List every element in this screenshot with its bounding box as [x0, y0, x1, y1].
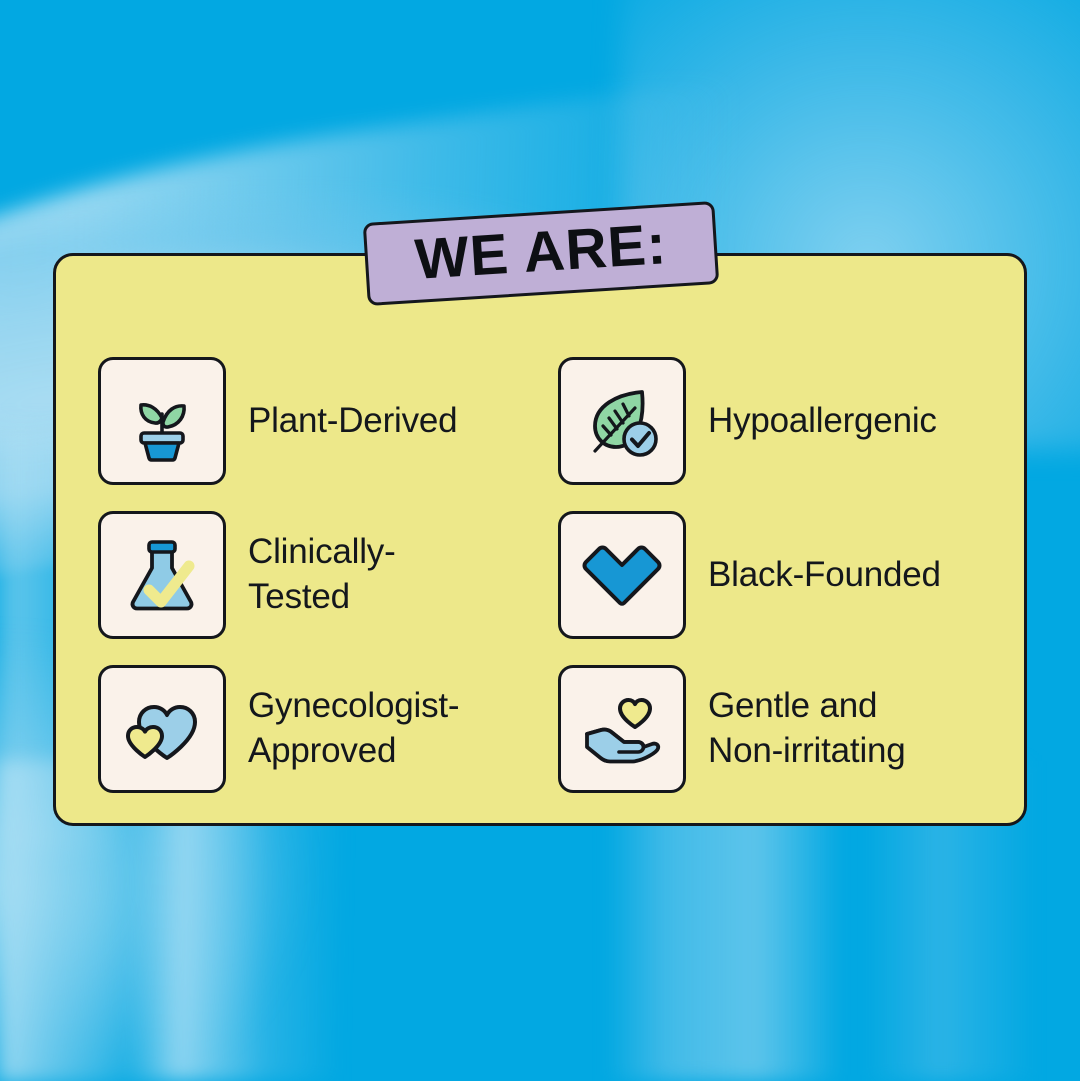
feature-icon-tile: [98, 357, 226, 485]
potted-plant-icon: [119, 378, 205, 464]
feature-item-gentle-non-irritating: Gentle and Non-irritating: [558, 652, 988, 806]
feature-icon-tile: [558, 357, 686, 485]
two-hearts-icon: [119, 686, 205, 772]
feature-label: Hypoallergenic: [708, 399, 937, 444]
feature-item-hypoallergenic: Hypoallergenic: [558, 344, 988, 498]
feature-icon-tile: [558, 665, 686, 793]
promo-graphic: WE ARE:: [0, 0, 1080, 1081]
feature-label: Gentle and Non-irritating: [708, 684, 906, 774]
feature-item-gynecologist-approved: Gynecologist- Approved: [98, 652, 558, 806]
feature-item-black-founded: Black-Founded: [558, 498, 988, 652]
leaf-check-icon: [579, 378, 665, 464]
heart-icon: [579, 532, 665, 618]
feature-label: Gynecologist- Approved: [248, 684, 459, 774]
feature-icon-tile: [98, 665, 226, 793]
features-grid: Plant-Derived: [98, 344, 988, 806]
feature-icon-tile: [558, 511, 686, 639]
feature-label: Black-Founded: [708, 553, 941, 598]
flask-check-icon: [119, 532, 205, 618]
feature-item-plant-derived: Plant-Derived: [98, 344, 558, 498]
feature-label: Clinically- Tested: [248, 530, 396, 620]
hand-heart-icon: [579, 686, 665, 772]
feature-label: Plant-Derived: [248, 399, 457, 444]
feature-icon-tile: [98, 511, 226, 639]
banner-title: WE ARE:: [413, 216, 668, 289]
feature-item-clinically-tested: Clinically- Tested: [98, 498, 558, 652]
